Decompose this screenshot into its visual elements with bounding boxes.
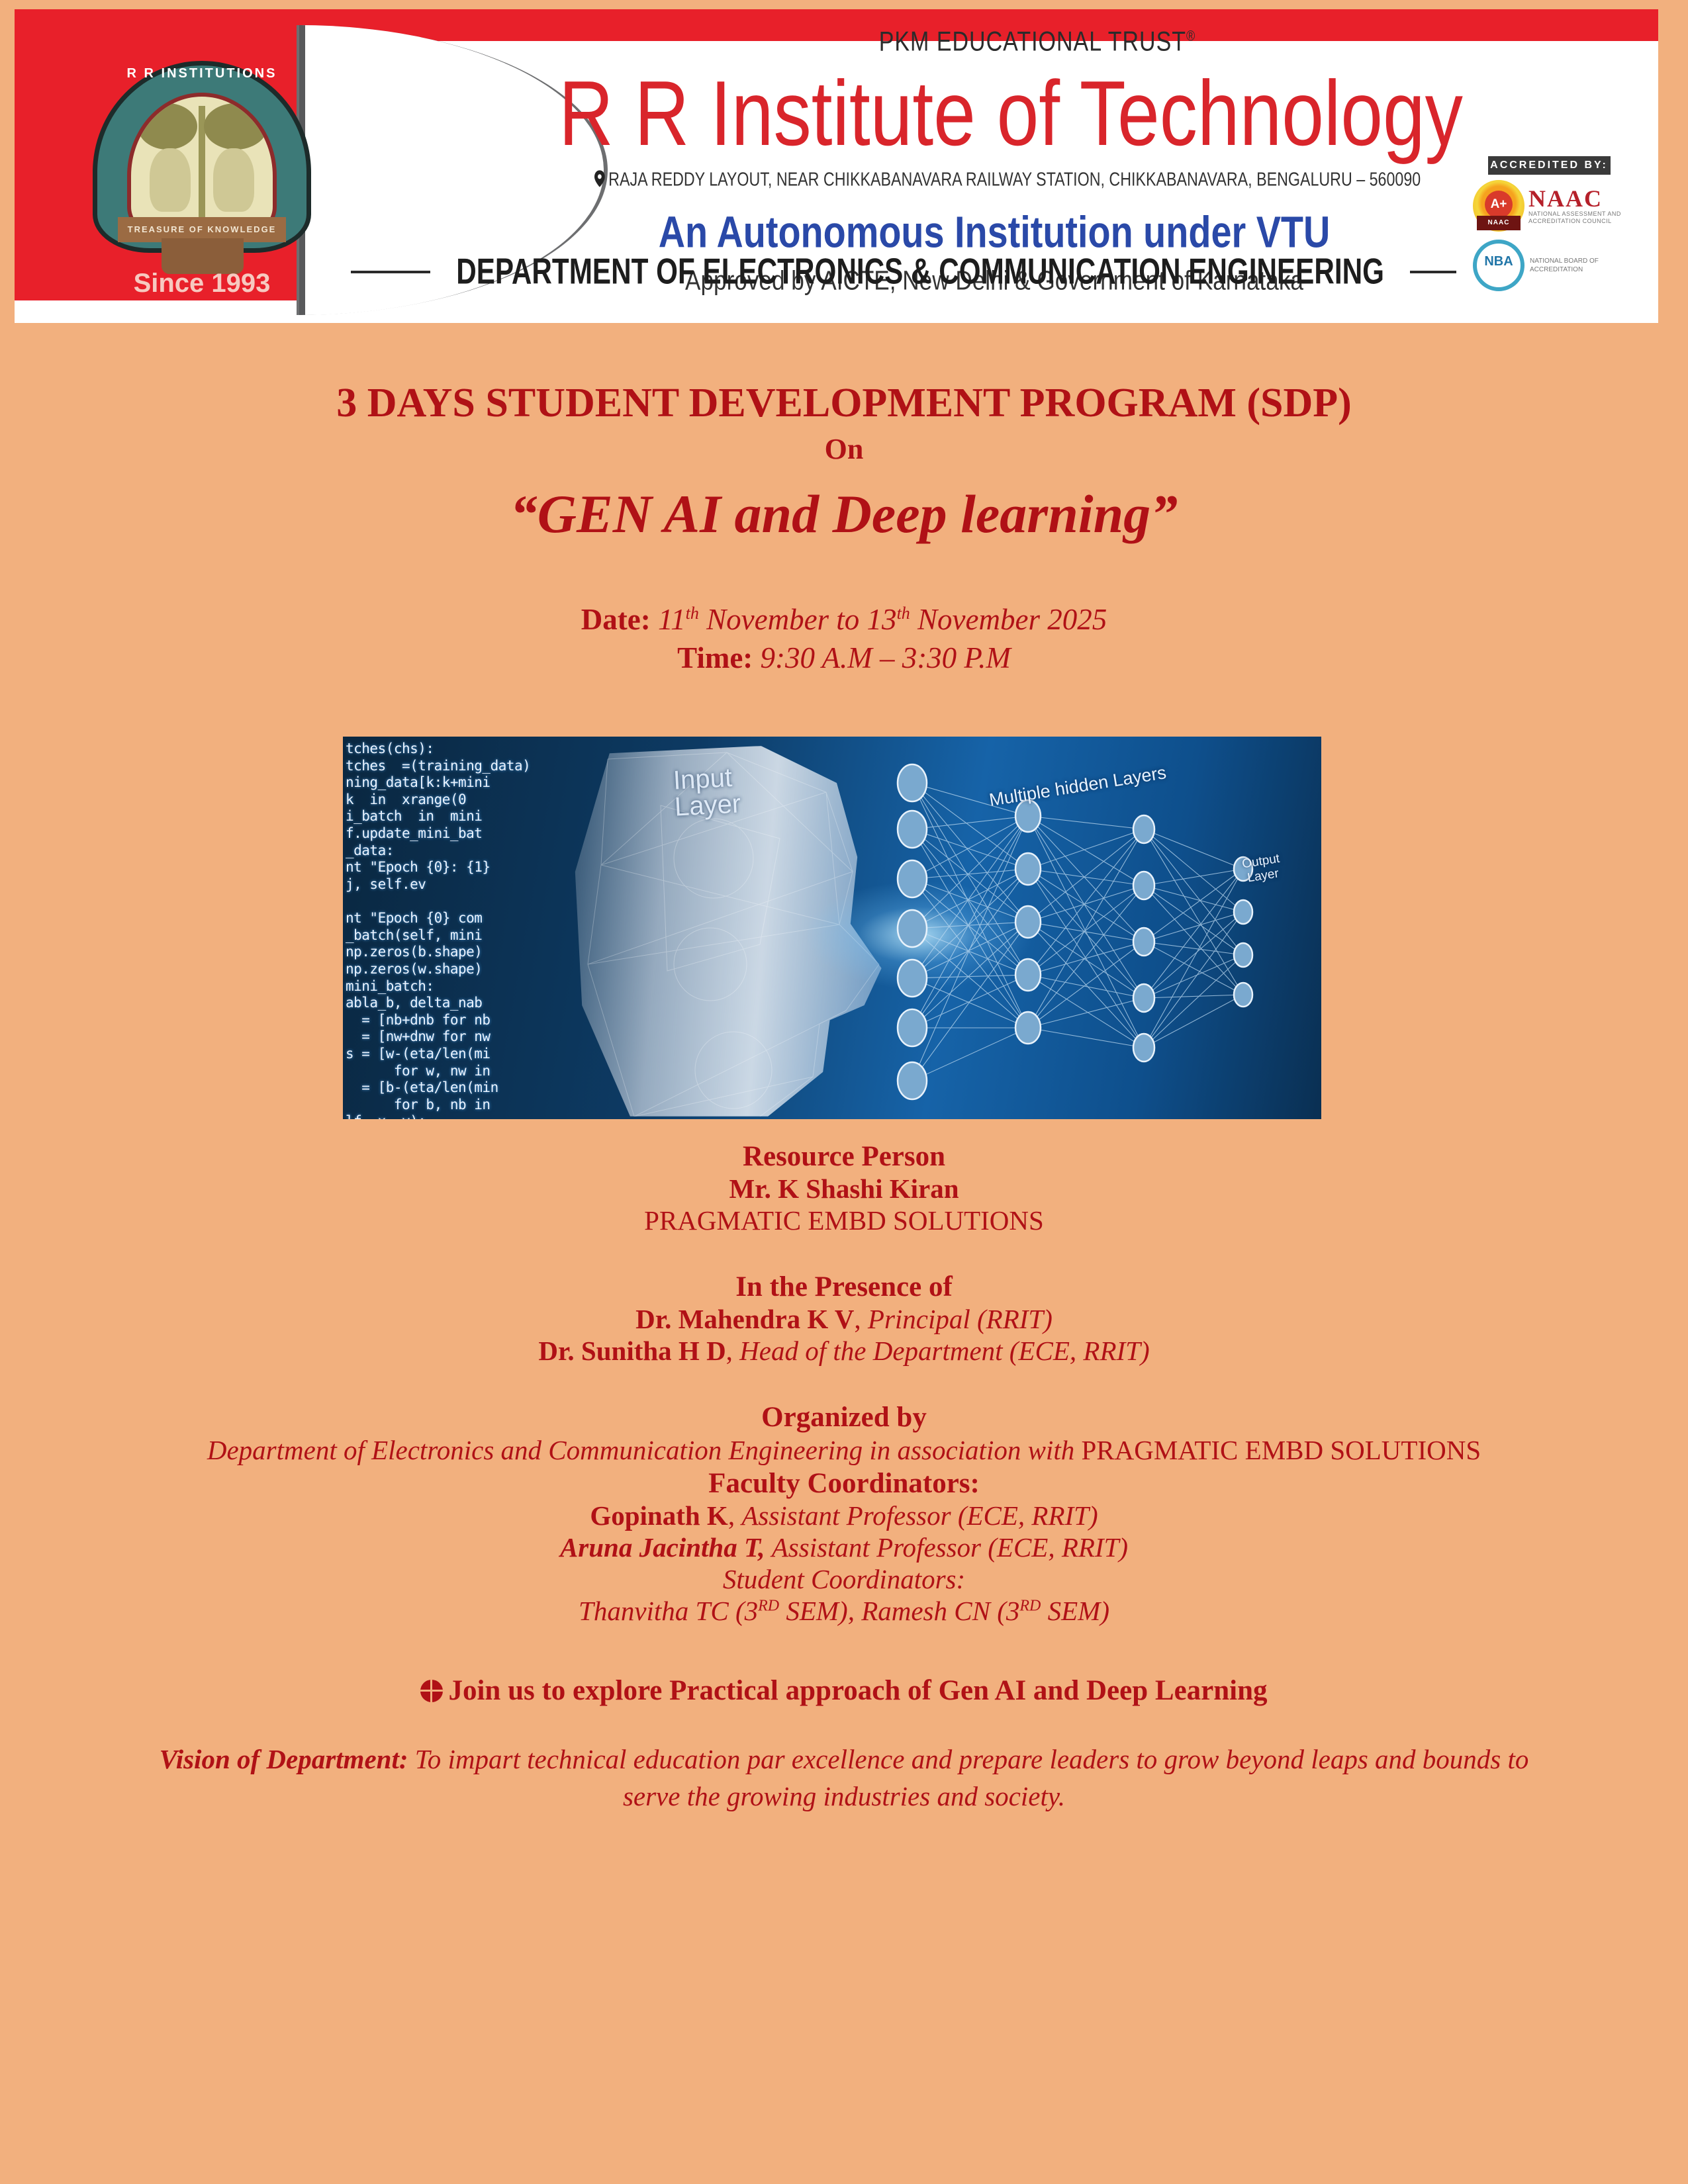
date-line: Date: 11th November to 13th November 202… [0,601,1688,639]
naac-grade-badge: A+ [1485,191,1513,218]
crest-figure-left [150,148,191,212]
globe-icon [420,1680,443,1702]
institute-name: R R Institute of Technology [468,67,1553,161]
department-name: DEPARTMENT OF ELECTRONICS & COMMUNICATIO… [450,251,1391,293]
time-label: Time: [677,641,753,674]
poster-content: 3 DAYS STUDENT DEVELOPMENT PROGRAM (SDP)… [0,331,1688,1815]
naac-ribbon-label: NAAC [1477,216,1521,230]
presence-heading: In the Presence of [0,1271,1688,1303]
presence-block: In the Presence of Dr. Mahendra K V, Pri… [0,1271,1688,1367]
student-name-2: SEM), Ramesh CN (3 [779,1596,1019,1626]
program-title: 3 DAYS STUDENT DEVELOPMENT PROGRAM (SDP) [0,380,1688,427]
organizing-partner: PRAGMATIC EMBD SOLUTIONS [1074,1435,1481,1465]
institute-crest-logo: R R INSTITUTIONS TREASURE OF KNOWLEDGE [93,61,311,259]
on-connector: On [0,432,1688,466]
spacer-1 [0,1236,1688,1271]
accredited-by-label: ACCREDITED BY: [1488,156,1611,175]
organizing-department: Department of Electronics and Communicat… [152,1433,1536,1467]
faculty-coordinator-2: Aruna Jacintha T, Assistant Professor (E… [0,1531,1688,1563]
resource-name-text: Mr. K Shashi Kiran [729,1173,959,1204]
date-end: November 2025 [910,603,1107,636]
presence-role-2: Head of the Department (ECE, RRIT) [739,1336,1149,1366]
naac-logo-row: A+ NAAC NAAC NATIONAL ASSESSMENT AND ACC… [1473,180,1625,232]
vision-text: To impart technical education par excell… [408,1744,1529,1811]
join-call-to-action: Join us to explore Practical approach of… [0,1674,1688,1707]
autonomous-institution-line: An Autonomous Institution under VTU [459,206,1530,257]
presence-name-2: Dr. Sunitha H D [538,1336,726,1366]
date-value: 11th November to 13th November 2025 [658,603,1107,636]
resource-person-heading: Resource Person [0,1140,1688,1173]
student-sem-ordinal-2: RD [1019,1598,1041,1615]
trust-name: PKM EDUCATIONAL TRUST® [504,26,1570,58]
presence-role-1: Principal (RRIT) [868,1304,1053,1334]
date-ordinal-2: th [897,604,910,623]
time-value: 9:30 A.M – 3:30 P.M [761,641,1011,674]
hero-image-spacer [0,677,1688,1140]
faculty-name-2: Aruna Jacintha T, [560,1532,765,1563]
presence-person-2: Dr. Sunitha H D, Head of the Department … [0,1335,1688,1367]
crest-arc-text: R R INSTITUTIONS [93,66,311,81]
spacer-2 [0,1367,1688,1401]
spacer-4 [0,1707,1688,1741]
faculty-role-2: Assistant Professor (ECE, RRIT) [772,1532,1128,1563]
institute-header-banner: R R INSTITUTIONS TREASURE OF KNOWLEDGE S… [15,9,1658,323]
organized-by-block: Organized by Department of Electronics a… [0,1401,1688,1627]
student-sem-ordinal-1: RD [758,1598,779,1615]
resource-person-org: PRAGMATIC EMBD SOLUTIONS [0,1205,1688,1236]
faculty-name-1: Gopinath K [590,1500,727,1531]
student-name-1: Thanvitha TC (3 [579,1596,758,1626]
naac-wordmark: NAAC [1528,187,1625,210]
address-text: RAJA REDDY LAYOUT, NEAR CHIKKABANAVARA R… [608,169,1421,190]
crest-since-text: Since 1993 [93,269,311,298]
faculty-coordinator-1: Gopinath K, Assistant Professor (ECE, RR… [0,1500,1688,1531]
student-coordinators-heading: Student Coordinators: [0,1563,1688,1595]
resource-person-name: Mr. K Shashi Kiran [0,1173,1688,1205]
student-coordinators-names: Thanvitha TC (3RD SEM), Ramesh CN (3RD S… [0,1595,1688,1627]
institute-address: RAJA REDDY LAYOUT, NEAR CHIKKABANAVARA R… [485,169,1531,193]
student-names-italic: Thanvitha TC (3RD SEM), Ramesh CN (3RD S… [579,1596,1109,1626]
crest-foliage-left [138,103,197,150]
crest-foliage-right [204,103,267,150]
crest-inner-emblem [127,93,277,232]
time-line: Time: 9:30 A.M – 3:30 P.M [0,639,1688,678]
date-label: Date: [581,603,651,636]
registered-mark: ® [1186,28,1196,44]
location-pin-icon [594,171,605,193]
organized-by-heading: Organized by [0,1401,1688,1433]
naac-seal-icon: A+ NAAC [1473,180,1524,232]
crest-figure-right [213,148,254,212]
naac-text-block: NAAC NATIONAL ASSESSMENT AND ACCREDITATI… [1528,187,1625,226]
naac-expansion: NATIONAL ASSESSMENT AND ACCREDITATION CO… [1528,210,1625,226]
join-text: Join us to explore Practical approach of… [448,1675,1267,1706]
faculty-coordinators-heading: Faculty Coordinators: [0,1467,1688,1500]
organizing-dept-italic: Department of Electronics and Communicat… [207,1435,1074,1465]
spacer-3 [0,1627,1688,1674]
resource-person-block: Resource Person Mr. K Shashi Kiran PRAGM… [0,1140,1688,1236]
department-rule-left [351,271,430,273]
vision-statement: Vision of Department: To impart technica… [139,1741,1549,1815]
presence-name-1: Dr. Mahendra K V [635,1304,854,1334]
date-ordinal-1: th [686,604,699,623]
date-middle: November to 13 [699,603,897,636]
date-day-start: 11 [658,603,686,636]
date-time-block: Date: 11th November to 13th November 202… [0,601,1688,677]
department-rule-right [1410,271,1456,273]
program-topic: “GEN AI and Deep learning” [0,483,1688,545]
student-coordinators-label: Student Coordinators: [723,1564,965,1594]
department-line: DEPARTMENT OF ELECTRONICS & COMMUNICATIO… [351,255,1635,289]
student-sem-end: SEM) [1041,1596,1109,1626]
trust-name-text: PKM EDUCATIONAL TRUST [879,26,1186,57]
presence-person-1: Dr. Mahendra K V, Principal (RRIT) [0,1303,1688,1335]
vision-label: Vision of Department: [160,1744,408,1774]
faculty-role-1: Assistant Professor (ECE, RRIT) [741,1500,1098,1531]
